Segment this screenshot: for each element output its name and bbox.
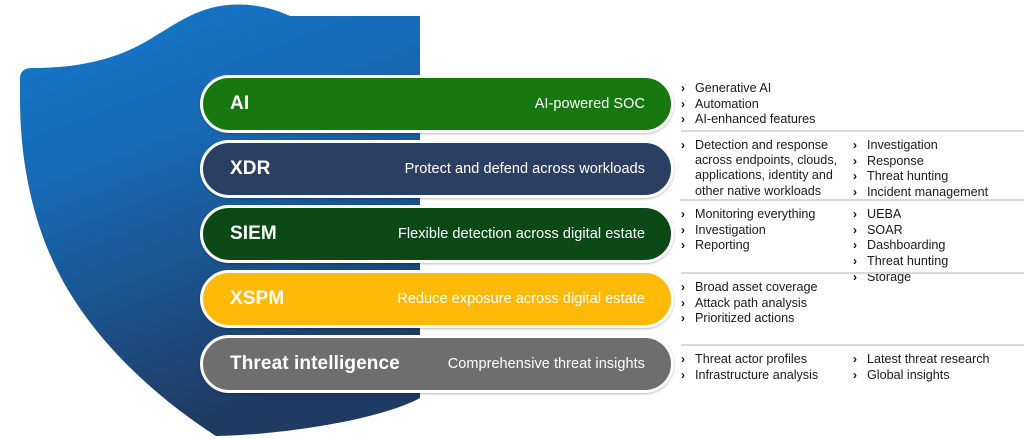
bullet-item: › Dashboarding xyxy=(853,238,1018,253)
bullet-label: Generative AI xyxy=(695,81,847,96)
chevron-right-icon: › xyxy=(681,112,692,127)
chevron-right-icon: › xyxy=(853,207,864,222)
bullet-label: Latest threat research xyxy=(867,352,1018,367)
chevron-right-icon: › xyxy=(853,368,864,383)
layer-subtitle: AI-powered SOC xyxy=(535,96,645,112)
chevron-right-icon: › xyxy=(853,138,864,153)
capability-detail-panel: › Generative AI › Automation › AI-enhanc… xyxy=(681,75,1024,399)
chevron-right-icon: › xyxy=(853,254,864,269)
layer-title: XSPM xyxy=(230,288,284,310)
bullet-item: › Threat actor profiles xyxy=(681,352,847,367)
bullet-label: Response xyxy=(867,154,1018,169)
detail-column-2: › Latest threat research › Global insigh… xyxy=(853,352,1024,383)
bullet-item: › Broad asset coverage xyxy=(681,280,847,295)
bullet-item: › Reporting xyxy=(681,238,847,253)
chevron-right-icon: › xyxy=(853,154,864,169)
chevron-right-icon: › xyxy=(853,352,864,367)
chevron-right-icon: › xyxy=(681,280,692,295)
bullet-label: AI-enhanced features xyxy=(695,112,847,127)
bullet-item: › Threat hunting xyxy=(853,254,1018,269)
detail-column-1: › Monitoring everything › Investigation … xyxy=(681,207,853,254)
detail-row-xdr: › Detection and response across endpoint… xyxy=(681,130,1024,199)
detail-row-ai: › Generative AI › Automation › AI-enhanc… xyxy=(681,75,1024,130)
layer-subtitle: Reduce exposure across digital estate xyxy=(397,291,645,307)
bullet-label: Reporting xyxy=(695,238,847,253)
layer-pill-threat-intelligence[interactable]: Threat intelligence Comprehensive threat… xyxy=(200,335,674,393)
detail-column-1: › Broad asset coverage › Attack path ana… xyxy=(681,280,853,327)
layer-subtitle: Protect and defend across workloads xyxy=(405,161,645,177)
bullet-label: Investigation xyxy=(695,223,847,238)
layer-subtitle: Comprehensive threat insights xyxy=(448,356,645,372)
layer-title: SIEM xyxy=(230,223,277,245)
bullet-label: Threat hunting xyxy=(867,254,1018,269)
bullet-item: › Automation xyxy=(681,97,847,112)
detail-column-1: › Detection and response across endpoint… xyxy=(681,138,853,199)
chevron-right-icon: › xyxy=(681,352,692,367)
layer-title: XDR xyxy=(230,158,270,180)
bullet-label: Threat actor profiles xyxy=(695,352,847,367)
bullet-item: › Attack path analysis xyxy=(681,296,847,311)
bullet-label: Global insights xyxy=(867,368,1018,383)
chevron-right-icon: › xyxy=(681,368,692,383)
chevron-right-icon: › xyxy=(853,169,864,184)
chevron-right-icon: › xyxy=(853,238,864,253)
bullet-item: › SOAR xyxy=(853,223,1018,238)
chevron-right-icon: › xyxy=(681,311,692,326)
detail-column-2: › Investigation › Response › Threat hunt… xyxy=(853,138,1024,201)
detail-column-1: › Threat actor profiles › Infrastructure… xyxy=(681,352,853,383)
bullet-label: Detection and response across endpoints,… xyxy=(695,138,847,199)
bullet-item: › Investigation xyxy=(853,138,1018,153)
bullet-item: › Detection and response across endpoint… xyxy=(681,138,847,199)
bullet-item: › Infrastructure analysis xyxy=(681,368,847,383)
chevron-right-icon: › xyxy=(681,238,692,253)
layer-subtitle: Flexible detection across digital estate xyxy=(398,226,645,242)
bullet-item: › UEBA xyxy=(853,207,1018,222)
chevron-right-icon: › xyxy=(853,223,864,238)
detail-row-siem: › Monitoring everything › Investigation … xyxy=(681,199,1024,272)
bullet-label: Monitoring everything xyxy=(695,207,847,222)
bullet-label: Automation xyxy=(695,97,847,112)
layer-title: AI xyxy=(230,93,249,115)
layer-pill-xspm[interactable]: XSPM Reduce exposure across digital esta… xyxy=(200,270,674,328)
layer-title: Threat intelligence xyxy=(230,353,400,375)
bullet-item: › Latest threat research xyxy=(853,352,1018,367)
bullet-item: › AI-enhanced features xyxy=(681,112,847,127)
chevron-right-icon: › xyxy=(681,223,692,238)
chevron-right-icon: › xyxy=(681,296,692,311)
bullet-item: › Prioritized actions xyxy=(681,311,847,326)
bullet-item: › Threat hunting xyxy=(853,169,1018,184)
bullet-label: Attack path analysis xyxy=(695,296,847,311)
bullet-item: › Generative AI xyxy=(681,81,847,96)
bullet-item: › Investigation xyxy=(681,223,847,238)
security-shield-diagram: AI AI-powered SOC XDR Protect and defend… xyxy=(0,0,1024,439)
chevron-right-icon: › xyxy=(681,97,692,112)
layer-pill-siem[interactable]: SIEM Flexible detection across digital e… xyxy=(200,205,674,263)
bullet-label: Prioritized actions xyxy=(695,311,847,326)
bullet-label: Dashboarding xyxy=(867,238,1018,253)
chevron-right-icon: › xyxy=(681,138,692,153)
detail-row-threat-intelligence: › Threat actor profiles › Infrastructure… xyxy=(681,344,1024,399)
bullet-label: Investigation xyxy=(867,138,1018,153)
bullet-label: SOAR xyxy=(867,223,1018,238)
bullet-label: UEBA xyxy=(867,207,1018,222)
bullet-label: Threat hunting xyxy=(867,169,1018,184)
bullet-item: › Global insights xyxy=(853,368,1018,383)
bullet-label: Broad asset coverage xyxy=(695,280,847,295)
detail-row-xspm: › Broad asset coverage › Attack path ana… xyxy=(681,272,1024,344)
bullet-item: › Monitoring everything xyxy=(681,207,847,222)
layer-pill-stack: AI AI-powered SOC XDR Protect and defend… xyxy=(200,75,674,400)
bullet-item: › Response xyxy=(853,154,1018,169)
detail-column-1: › Generative AI › Automation › AI-enhanc… xyxy=(681,81,853,128)
layer-pill-ai[interactable]: AI AI-powered SOC xyxy=(200,75,674,133)
bullet-label: Infrastructure analysis xyxy=(695,368,847,383)
chevron-right-icon: › xyxy=(681,207,692,222)
layer-pill-xdr[interactable]: XDR Protect and defend across workloads xyxy=(200,140,674,198)
chevron-right-icon: › xyxy=(681,81,692,96)
